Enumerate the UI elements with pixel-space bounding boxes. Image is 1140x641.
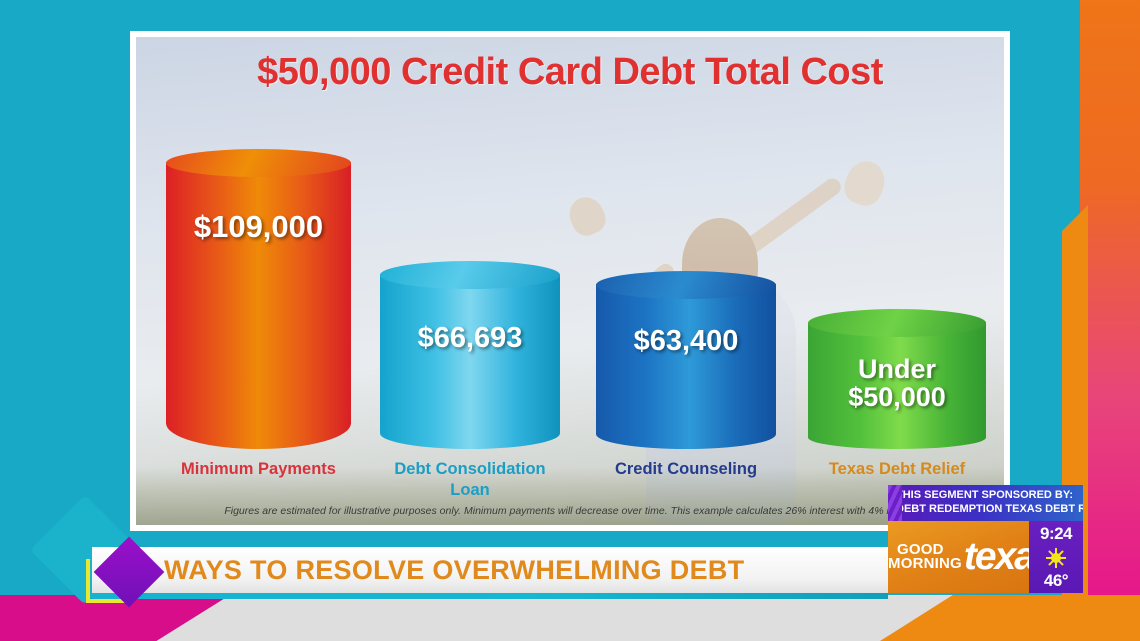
cylinder-shape: $66,693 [380,261,560,449]
bar-category-label: Texas Debt Relief [782,459,1004,480]
cylinder-body [596,284,776,449]
bar-value-label: $66,693 [380,323,560,353]
station-logo: GOOD MORNING texas [888,521,1029,593]
sun-icon [1046,548,1066,568]
bar-chart: $109,000 Minimum Payments $66,693 Debt C… [136,37,1004,525]
cylinder-shape: Under $50,000 [808,309,986,449]
cylinder-shape: $109,000 [166,149,351,449]
sponsor-stripes [888,485,902,521]
bar-value-label: $63,400 [596,326,776,356]
sponsor-line-1: THIS SEGMENT SPONSORED BY: [896,488,1079,502]
cylinder-body [380,274,560,449]
bar-category-label: Credit Counseling [570,459,802,480]
bar-category-label: Minimum Payments [140,459,377,480]
bar-credit-counseling: $63,400 Credit Counseling [596,271,776,449]
sponsor-box: THIS SEGMENT SPONSORED BY: DEBT REDEMPTI… [888,485,1083,521]
bar-minimum-payments: $109,000 Minimum Payments [166,149,351,449]
bar-category-label: Debt Consolidation Loan [354,459,586,500]
bar-value-line1: Under [858,354,936,384]
bar-value-label: Under $50,000 [808,355,986,412]
bar-value-line2: $50,000 [848,382,946,412]
chart-canvas: $50,000 Credit Card Debt Total Cost $109… [136,37,1004,525]
bar-debt-consolidation-loan: $66,693 Debt Consolidation Loan [380,261,560,449]
sponsor-line-2: DEBT REDEMPTION TEXAS DEBT RELIEF [896,502,1079,516]
station-logo-morning: MORNING [888,557,962,571]
cylinder-top-ellipse [808,309,986,337]
station-logo-stack: GOOD MORNING [897,543,962,571]
cylinder-shape: $63,400 [596,271,776,449]
cylinder-body [166,162,351,449]
lower-third-underline [92,592,888,599]
bar-category-line1: Debt Consolidation [394,460,545,478]
right-gradient-stripe [1080,0,1140,641]
weather-widget: 9:24 46° [1029,521,1083,593]
bar-category-line2: Loan [450,481,489,499]
lower-third-banner: WAYS TO RESOLVE OVERWHELMING DEBT [92,547,888,593]
bar-value-label: $109,000 [166,211,351,244]
cylinder-top-ellipse [596,271,776,299]
chart-disclaimer: Figures are estimated for illustrative p… [136,505,1004,517]
lower-third-headline: WAYS TO RESOLVE OVERWHELMING DEBT [164,555,744,586]
cylinder-top-ellipse [166,149,351,177]
station-logo-texas: texas [964,539,1029,574]
cylinder-top-ellipse [380,261,560,289]
chart-graphic-card: $50,000 Credit Card Debt Total Cost $109… [130,31,1010,531]
bar-texas-debt-relief: Under $50,000 Texas Debt Relief [808,309,986,449]
temperature-value: 46° [1044,571,1068,591]
clock-time: 9:24 [1040,524,1072,544]
